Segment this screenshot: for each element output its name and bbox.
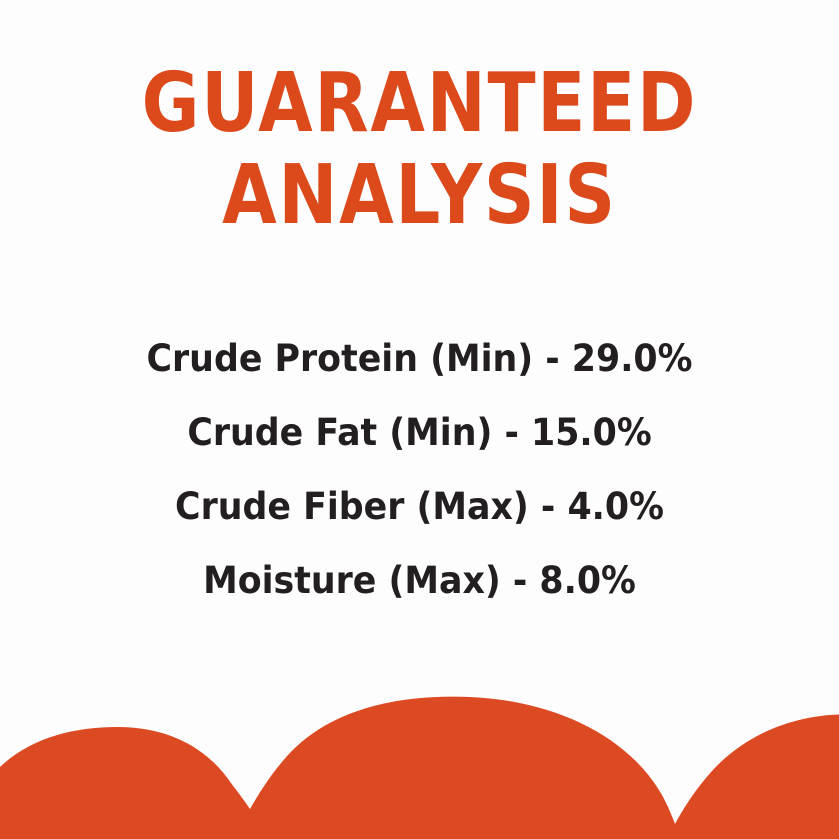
analysis-row: Crude Fiber (Max) - 4.0%: [25, 470, 814, 544]
scalloped-bottom-shape-icon: [0, 679, 839, 839]
analysis-row: Crude Protein (Min) - 29.0%: [25, 322, 814, 396]
page-title-line-2: Analysis: [59, 150, 781, 242]
analysis-row: Crude Fat (Min) - 15.0%: [25, 396, 814, 470]
page-title: Guaranteed Analysis: [59, 58, 781, 242]
guaranteed-analysis-panel: Guaranteed Analysis Crude Protein (Min) …: [0, 0, 839, 839]
page-title-line-1: Guaranteed: [59, 58, 781, 150]
guaranteed-analysis-list: Crude Protein (Min) - 29.0% Crude Fat (M…: [0, 322, 839, 618]
analysis-row: Moisture (Max) - 8.0%: [25, 544, 814, 618]
